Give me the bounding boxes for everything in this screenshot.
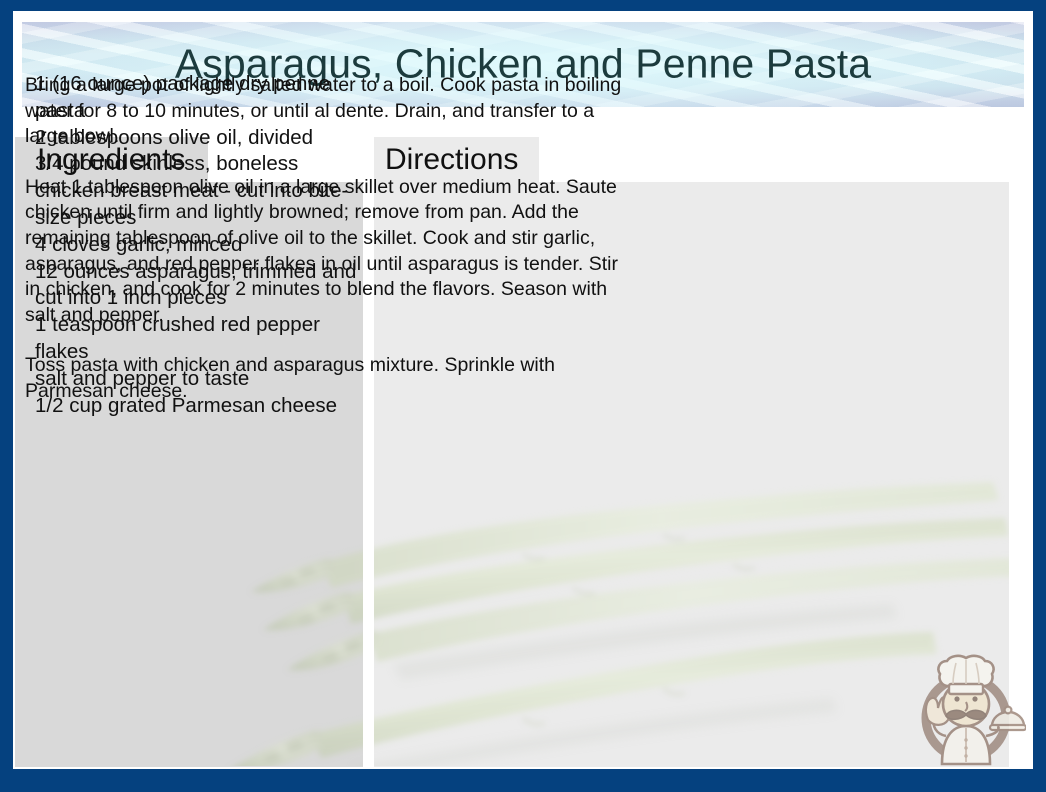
chef-logo-icon — [906, 652, 1026, 769]
bottom-margin-strip — [13, 767, 1033, 769]
recipe-page: Asparagus, Chicken and Penne Pasta Ingre… — [13, 11, 1033, 769]
direction-step: Bring a large pot of lightly salted wate… — [25, 73, 625, 150]
directions-list: Bring a large pot of lightly salted wate… — [25, 73, 625, 405]
recipe-card: Asparagus, Chicken and Penne Pasta Ingre… — [0, 0, 1046, 792]
direction-step: Toss pasta with chicken and asparagus mi… — [25, 353, 625, 404]
left-margin-strip — [13, 137, 15, 769]
direction-step: Heat 1 tablespoon olive oil in a large s… — [25, 175, 625, 329]
